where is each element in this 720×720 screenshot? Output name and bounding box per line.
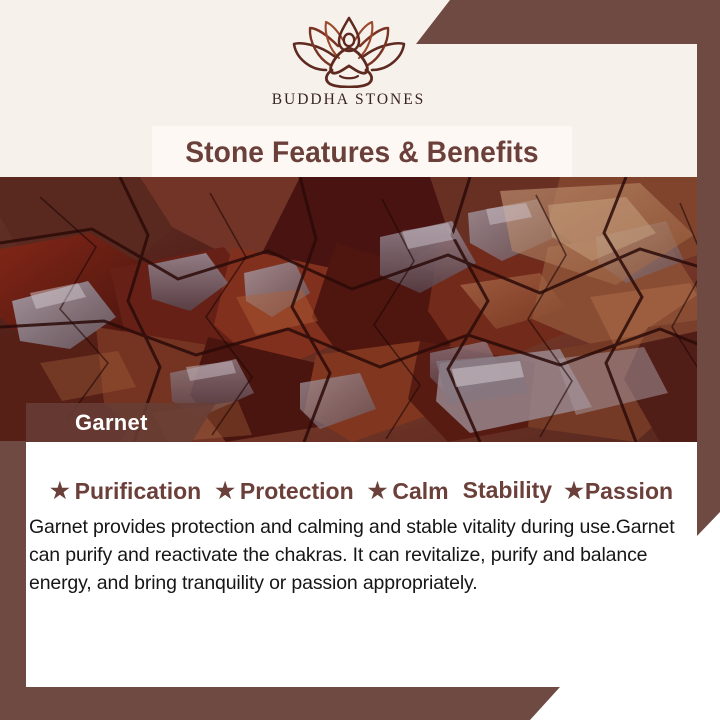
- benefit-label: Passion: [585, 478, 673, 505]
- garnet-texture: [0, 177, 720, 442]
- page-title: Stone Features & Benefits: [185, 136, 538, 170]
- star-icon: ★: [215, 480, 235, 502]
- benefit-item-purification: ★ Purification: [50, 478, 201, 505]
- content-region: ★ Purification ★ Protection ★ Calm Stabi…: [26, 442, 697, 687]
- stone-name-banner: Garnet: [26, 403, 216, 442]
- benefit-label: Protection: [240, 478, 354, 505]
- benefit-label: Stability: [463, 477, 552, 504]
- decor-bar-top-right: [416, 0, 720, 44]
- decor-bar-left: [0, 441, 26, 720]
- stone-description: Garnet provides protection and calming a…: [29, 513, 689, 597]
- benefit-item-protection: ★ Protection: [215, 478, 353, 505]
- benefit-item-calm: ★ Calm: [368, 478, 449, 505]
- benefit-item-stability: Stability: [463, 477, 552, 504]
- benefit-item-passion: ★ Passion: [564, 478, 673, 505]
- decor-bar-bottom: [0, 687, 560, 720]
- benefits-row: ★ Purification ★ Protection ★ Calm Stabi…: [26, 477, 697, 505]
- star-icon: ★: [564, 480, 584, 502]
- stone-hero-image: [0, 177, 720, 442]
- benefit-label: Calm: [392, 478, 448, 505]
- decor-bar-right: [697, 44, 720, 536]
- page-frame: BUDDHA STONES Stone Features & Benefits: [0, 0, 720, 720]
- brand-wordmark: BUDDHA STONES: [272, 91, 426, 109]
- lotus-meditation-icon: [290, 16, 408, 88]
- benefit-label: Purification: [75, 478, 202, 505]
- stone-name: Garnet: [75, 410, 148, 436]
- page-title-banner: Stone Features & Benefits: [152, 126, 572, 179]
- star-icon: ★: [368, 480, 388, 502]
- star-icon: ★: [50, 480, 70, 502]
